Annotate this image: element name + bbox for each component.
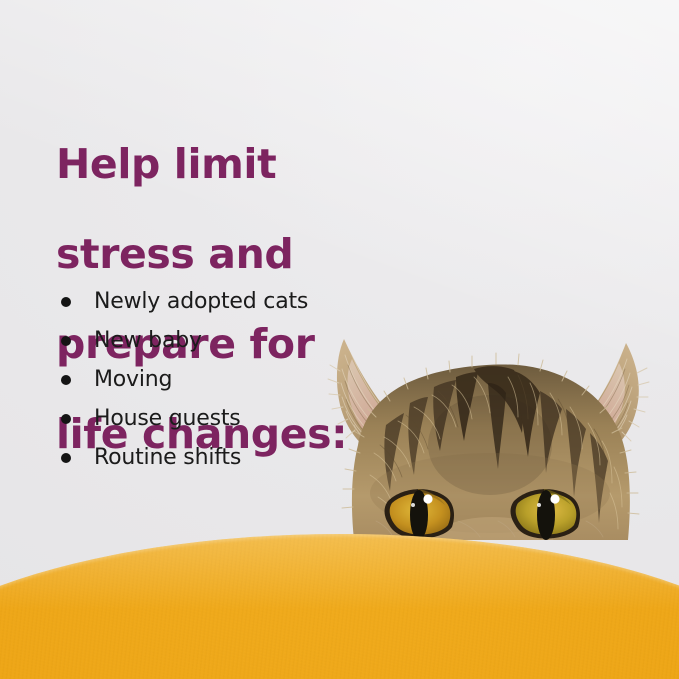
list-item-label: House guests (94, 406, 241, 431)
list-item: New baby (58, 329, 358, 368)
list-item-label: Routine shifts (94, 445, 241, 470)
list-item: Routine shifts (58, 446, 358, 485)
poster-canvas: Help limit stress and prepare for life c… (0, 0, 679, 679)
list-item: Moving (58, 368, 358, 407)
list-item-label: Newly adopted cats (94, 289, 308, 314)
bullet-dot-icon (61, 414, 71, 424)
list-item-label: Moving (94, 367, 172, 392)
bullet-dot-icon (61, 453, 71, 463)
list-item-label: New baby (94, 328, 202, 353)
list-item: Newly adopted cats (58, 290, 358, 329)
headline-line-1: Help limit (56, 142, 386, 187)
bullet-dot-icon (61, 336, 71, 346)
bullet-list: Newly adopted cats New baby Moving House… (58, 290, 358, 485)
tabby-cat-image (318, 325, 662, 565)
headline-line-2: stress and (56, 232, 386, 277)
bullet-dot-icon (61, 375, 71, 385)
cat-head (342, 353, 639, 565)
bullet-dot-icon (61, 297, 71, 307)
list-item: House guests (58, 407, 358, 446)
